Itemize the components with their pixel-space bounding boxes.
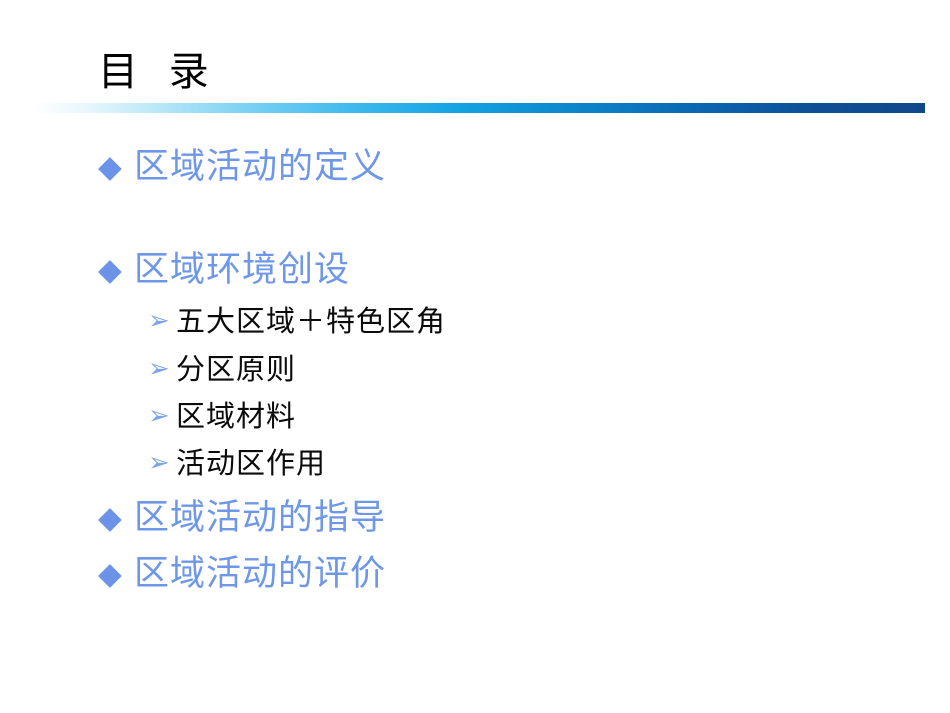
diamond-bullet-icon: ◆ [98,497,134,539]
outline-subitem-label: 区域材料 [176,398,296,434]
outline-item-environment[interactable]: ◆ 区域环境创设 [98,249,350,291]
outline-item-evaluation[interactable]: ◆ 区域活动的评价 [98,553,386,595]
presentation-slide: 目 录 ◆ 区域活动的定义 ◆ 区域环境创设 ➢ 五大区域＋特色区角 ➢ 分区原… [0,0,950,713]
outline-item-definition[interactable]: ◆ 区域活动的定义 [98,146,386,188]
outline-subitem-activity-area-function[interactable]: ➢ 活动区作用 [148,445,326,481]
page-title: 目 录 [98,48,218,96]
diamond-bullet-icon: ◆ [98,146,134,188]
outline-item-label: 区域环境创设 [134,249,350,291]
outline-subitem-zoning-principles[interactable]: ➢ 分区原则 [148,351,296,387]
outline-subitem-five-areas[interactable]: ➢ 五大区域＋特色区角 [148,303,446,339]
outline-subitem-label: 活动区作用 [176,445,326,481]
outline-subitem-area-materials[interactable]: ➢ 区域材料 [148,398,296,434]
diamond-bullet-icon: ◆ [98,249,134,291]
outline-item-label: 区域活动的评价 [134,553,386,595]
outline-subitem-label: 五大区域＋特色区角 [176,303,446,339]
arrow-bullet-icon: ➢ [148,303,176,339]
diamond-bullet-icon: ◆ [98,553,134,595]
arrow-bullet-icon: ➢ [148,398,176,434]
arrow-bullet-icon: ➢ [148,351,176,387]
outline-item-label: 区域活动的定义 [134,146,386,188]
outline-subitem-label: 分区原则 [176,351,296,387]
outline-item-guidance[interactable]: ◆ 区域活动的指导 [98,497,386,539]
arrow-bullet-icon: ➢ [148,445,176,481]
outline-item-label: 区域活动的指导 [134,497,386,539]
title-underline-gradient-bar [32,103,925,113]
